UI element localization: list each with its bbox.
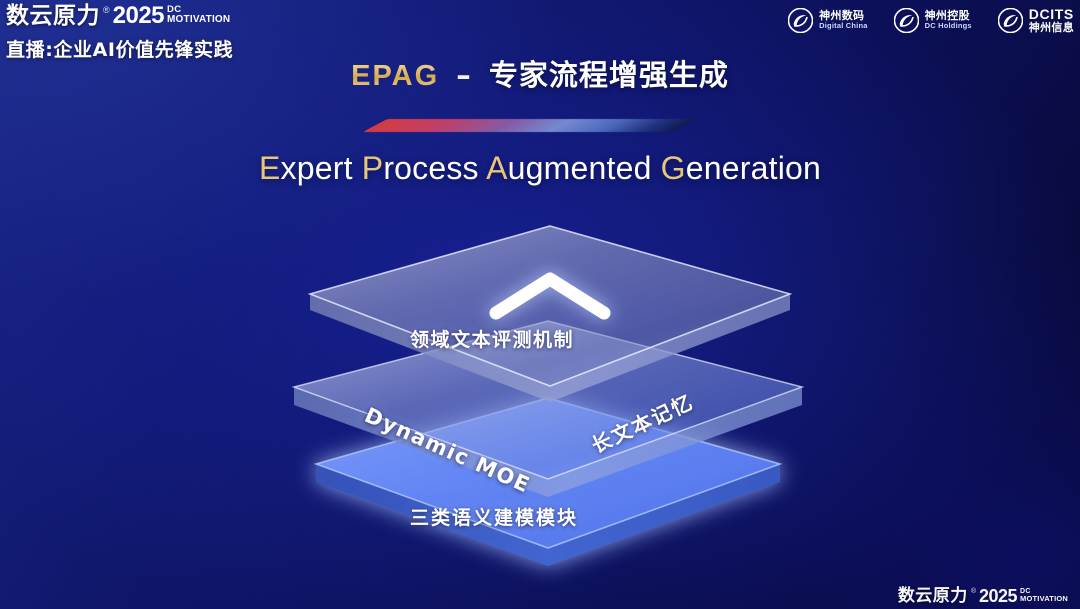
subtitle-word-generation: Generation bbox=[661, 150, 821, 186]
subtitle-initial: E bbox=[259, 150, 281, 186]
partner-text: DCITS 神州信息 bbox=[1029, 7, 1074, 33]
subtitle-initial: G bbox=[661, 150, 686, 186]
title-dash: – bbox=[456, 58, 472, 92]
brand-name-cn: 数云原力 bbox=[898, 587, 968, 605]
divider-bar bbox=[363, 119, 697, 132]
partner-name-en: Digital China bbox=[819, 22, 867, 30]
partner-logo-dcits: DCITS 神州信息 bbox=[998, 7, 1074, 33]
layered-stack-diagram: 三类语义建模模块 bbox=[258, 214, 838, 584]
title-acronym: EPAG bbox=[351, 60, 439, 92]
partner-logo-dc-holdings: 神州控股 DC Holdings bbox=[894, 7, 972, 33]
swirl-logo-icon bbox=[788, 8, 813, 33]
partner-logo-group: 神州数码 Digital China 神州控股 DC Holdings bbox=[788, 7, 1074, 33]
subtitle-rest: eneration bbox=[686, 150, 821, 186]
subtitle-rest: rocess bbox=[383, 150, 478, 186]
brand-year: 2025 bbox=[979, 587, 1017, 605]
brand-logo-bottom-right: 数云原力 ® 2025 DC MOTIVATION bbox=[898, 587, 1068, 605]
subtitle-word-process: Process bbox=[362, 150, 479, 186]
title-chinese: 专家流程增强生成 bbox=[489, 58, 729, 92]
brand-registered-mark: ® bbox=[103, 4, 110, 16]
subtitle-rest: ugmented bbox=[508, 150, 652, 186]
subtitle-word-expert: Expert bbox=[259, 150, 353, 186]
title-divider bbox=[375, 119, 685, 132]
brand-registered-mark: ® bbox=[971, 587, 976, 596]
brand-year: 2025 bbox=[113, 4, 164, 28]
brand-dc-line2: MOTIVATION bbox=[1020, 595, 1068, 603]
partner-name-en: DC Holdings bbox=[925, 22, 972, 30]
subtitle-rest: xpert bbox=[281, 150, 353, 186]
brand-lockup: 数云原力 ® 2025 DC MOTIVATION bbox=[898, 587, 1068, 605]
swirl-logo-icon bbox=[894, 8, 919, 33]
brand-lockup: 数云原力 ® 2025 DC MOTIVATION bbox=[6, 4, 233, 28]
subtitle-word-augmented: Augmented bbox=[486, 150, 651, 186]
partner-text: 神州数码 Digital China bbox=[819, 10, 867, 29]
partner-text: 神州控股 DC Holdings bbox=[925, 10, 972, 29]
subtitle-initial: A bbox=[486, 150, 508, 186]
live-stream-label: 直播:企业AI价值先锋实践 bbox=[6, 35, 233, 62]
partner-name-en: 神州信息 bbox=[1029, 22, 1074, 34]
brand-logo-top-left: 数云原力 ® 2025 DC MOTIVATION 直播:企业AI价值先锋实践 bbox=[6, 4, 233, 62]
brand-dc-motivation: DC MOTIVATION bbox=[167, 4, 230, 25]
brand-name-cn: 数云原力 bbox=[6, 4, 100, 28]
partner-logo-digital-china: 神州数码 Digital China bbox=[788, 7, 867, 33]
subtitle-initial: P bbox=[362, 150, 384, 186]
swirl-logo-icon bbox=[998, 8, 1023, 33]
diagram-layer-top: 领域文本评测机制 bbox=[258, 214, 838, 544]
slide-subtitle: Expert Process Augmented Generation bbox=[0, 150, 1080, 187]
chevron-up-icon bbox=[488, 269, 612, 321]
slide-canvas: 数云原力 ® 2025 DC MOTIVATION 直播:企业AI价值先锋实践 … bbox=[0, 0, 1080, 609]
brand-dc-motivation: DC MOTIVATION bbox=[1020, 587, 1068, 603]
brand-dc-line2: MOTIVATION bbox=[167, 15, 230, 25]
partner-name-cn: DCITS bbox=[1029, 7, 1074, 22]
